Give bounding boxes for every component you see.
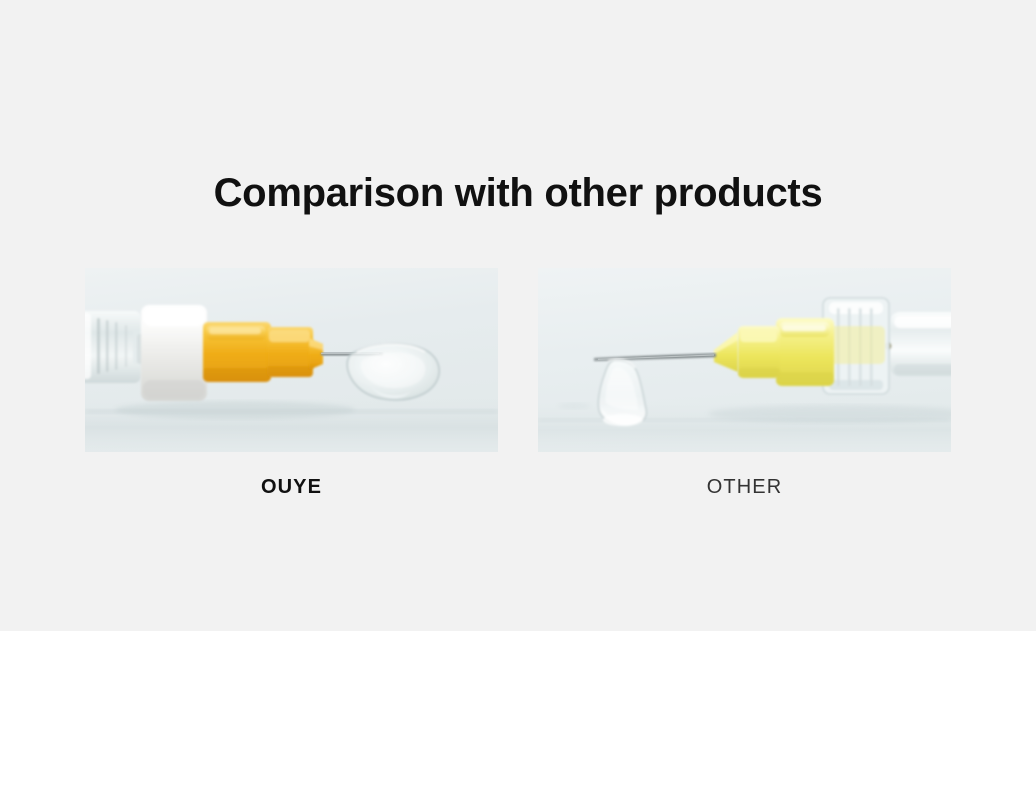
other-syringe-photo bbox=[538, 268, 951, 452]
page-title: Comparison with other products bbox=[0, 168, 1036, 218]
white-footer-band bbox=[0, 631, 1036, 800]
comparison-item-ouye: OUYE bbox=[85, 268, 498, 499]
product-label-ouye: OUYE bbox=[261, 475, 322, 499]
ouye-syringe-photo bbox=[85, 268, 498, 452]
comparison-row: OUYE bbox=[85, 268, 951, 518]
comparison-page: Comparison with other products bbox=[0, 0, 1036, 800]
comparison-item-other: OTHER bbox=[538, 268, 951, 499]
product-label-other: OTHER bbox=[707, 475, 783, 499]
